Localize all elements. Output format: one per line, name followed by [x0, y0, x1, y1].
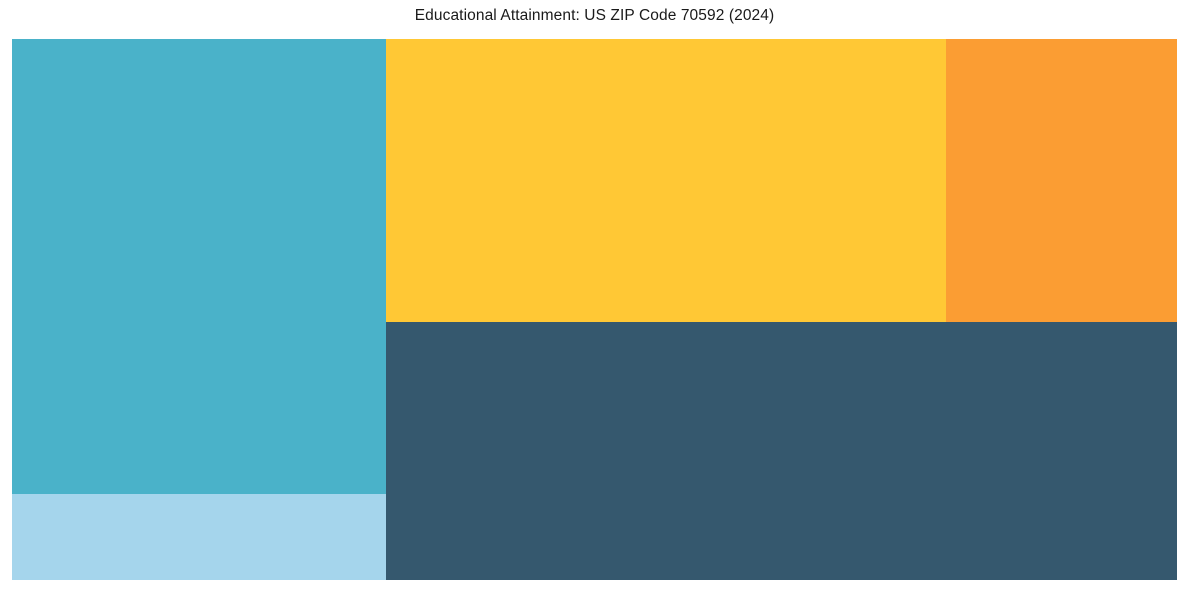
treemap-plot-area: [12, 39, 1177, 580]
treemap-tile-light-blue[interactable]: [12, 494, 386, 580]
treemap-figure: Educational Attainment: US ZIP Code 7059…: [0, 0, 1189, 590]
treemap-tile-orange[interactable]: [946, 39, 1177, 322]
treemap-tile-label: [386, 39, 946, 322]
treemap-tile-label: [946, 39, 1177, 322]
treemap-tile-label: [12, 494, 386, 580]
treemap-tile-teal[interactable]: [12, 39, 386, 494]
page-title: Educational Attainment: US ZIP Code 7059…: [0, 6, 1189, 26]
treemap-tile-navy[interactable]: [386, 322, 1177, 580]
treemap-tile-label: [386, 322, 1177, 580]
treemap-tile-yellow[interactable]: [386, 39, 946, 322]
treemap-tile-label: [12, 39, 386, 494]
